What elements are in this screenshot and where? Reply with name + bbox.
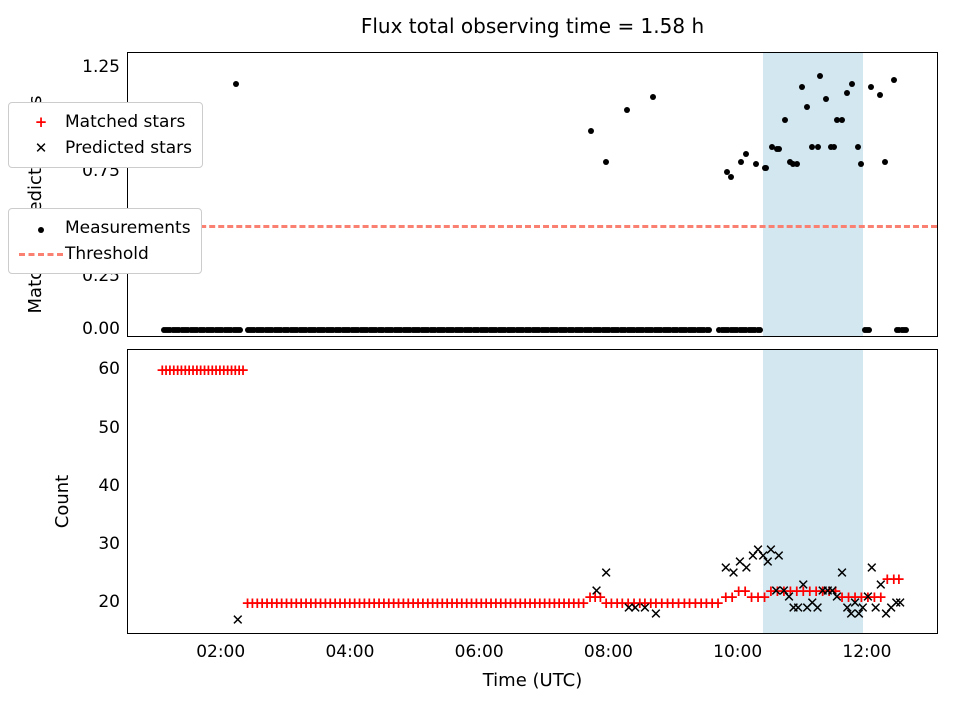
matched-star-marker: + [225, 364, 238, 377]
matched-star-marker: + [179, 364, 192, 377]
bottom-panel-plot-area: ++++++++++++++++++++++++++++++++++++++++… [128, 350, 937, 633]
predicted-star-marker: ✕ [590, 585, 603, 598]
measurement-point [868, 84, 874, 90]
matched-star-marker: + [611, 597, 624, 610]
ytick-label: 20 [98, 592, 120, 612]
predicted-star-marker: ✕ [890, 597, 903, 610]
matched-star-marker: + [187, 364, 200, 377]
matched-star-marker: + [358, 597, 371, 610]
xtick-label: 10:00 [713, 642, 762, 662]
matched-star-marker: + [887, 573, 900, 586]
predicted-star-marker: ✕ [600, 567, 613, 580]
legend-item-matched-stars[interactable]: + Matched stars [17, 109, 192, 135]
matched-star-marker: + [329, 597, 342, 610]
matched-star-marker: + [683, 597, 696, 610]
matched-star-marker: + [485, 597, 498, 610]
predicted-star-marker: ✕ [869, 602, 882, 615]
matched-star-marker: + [638, 597, 651, 610]
matched-star-marker: + [261, 597, 274, 610]
measurement-point [603, 159, 609, 165]
predicted-star-marker: ✕ [885, 602, 898, 615]
bottom-panel-ylabel: Count [52, 359, 73, 644]
matched-star-marker: + [256, 597, 269, 610]
ytick-mark [127, 329, 128, 331]
ytick-label: 30 [98, 534, 120, 554]
matched-star-marker: + [633, 597, 646, 610]
matched-star-marker: + [548, 597, 561, 610]
matched-star-marker: + [465, 597, 478, 610]
matched-star-marker: + [577, 597, 590, 610]
matched-star-marker: + [221, 364, 234, 377]
predicted-star-marker: ✕ [629, 602, 642, 615]
ytick-mark [127, 602, 128, 604]
matched-star-marker: + [678, 597, 691, 610]
matched-star-marker: + [299, 597, 312, 610]
ytick-mark [127, 172, 128, 174]
matched-star-marker: + [874, 591, 887, 604]
measurement-point [815, 144, 821, 150]
matched-star-marker: + [334, 597, 347, 610]
matched-star-marker: + [156, 364, 169, 377]
matched-star-marker: + [397, 597, 410, 610]
measurement-point [728, 174, 734, 180]
matched-star-marker: + [538, 597, 551, 610]
matched-star-marker: + [217, 364, 230, 377]
ytick-mark [127, 370, 128, 372]
matched-star-marker: + [416, 597, 429, 610]
matched-star-marker: + [455, 597, 468, 610]
measurement-point [624, 107, 630, 113]
ytick-mark [127, 486, 128, 488]
ytick-label: 60 [98, 359, 120, 379]
matched-star-marker: + [460, 597, 473, 610]
matched-star-marker: + [706, 597, 719, 610]
measurement-point [799, 84, 805, 90]
xtick-label: 06:00 [455, 642, 504, 662]
matched-star-marker: + [319, 597, 332, 610]
matched-star-marker: + [402, 597, 415, 610]
measurement-point [855, 144, 861, 150]
matched-star-marker: + [881, 573, 894, 586]
xaxis-label: Time (UTC) [127, 670, 938, 691]
matched-star-marker: + [392, 597, 405, 610]
matched-star-marker: + [528, 597, 541, 610]
matched-star-marker: + [377, 597, 390, 610]
threshold-line [128, 225, 937, 228]
predicted-star-marker: ✕ [874, 579, 887, 592]
matched-star-marker: + [202, 364, 215, 377]
matched-star-marker: + [627, 597, 640, 610]
legend-label-matched-stars: Matched stars [65, 112, 185, 132]
matched-star-marker: + [246, 597, 259, 610]
matched-star-marker: + [567, 597, 580, 610]
matched-star-marker: + [353, 597, 366, 610]
matched-star-marker: + [275, 597, 288, 610]
ytick-mark [127, 67, 128, 69]
matched-star-marker: + [655, 597, 668, 610]
matched-star-marker: + [421, 597, 434, 610]
measurement-point-zero [757, 327, 763, 333]
predicted-star-marker: ✕ [727, 567, 740, 580]
cross-marker-icon: ✕ [17, 139, 65, 157]
xtick-label: 12:00 [842, 642, 891, 662]
matched-star-marker: + [237, 364, 250, 377]
measurement-point [794, 161, 800, 167]
figure-root: Flux total observing time = 1.58 h 0.000… [0, 0, 960, 720]
matched-star-marker: + [426, 597, 439, 610]
matched-star-marker: + [562, 597, 575, 610]
matched-star-marker: + [407, 597, 420, 610]
measurement-point-zero [866, 327, 872, 333]
matched-star-marker: + [441, 597, 454, 610]
xaxis-tick-labels: 02:0004:0006:0008:0010:0012:00 [127, 634, 938, 664]
matched-star-marker: + [290, 597, 303, 610]
matched-star-marker: + [436, 597, 449, 610]
matched-star-marker: + [338, 597, 351, 610]
matched-star-marker: + [450, 597, 463, 610]
matched-star-marker: + [387, 597, 400, 610]
matched-star-marker: + [739, 585, 752, 598]
matched-star-marker: + [295, 597, 308, 610]
measurement-point-zero [237, 327, 243, 333]
matched-star-marker: + [644, 597, 657, 610]
matched-star-marker: + [572, 597, 585, 610]
matched-star-marker: + [700, 597, 713, 610]
xtick-mark [221, 336, 223, 337]
plus-marker-icon: + [17, 113, 65, 131]
predicted-star-marker: ✕ [649, 608, 662, 621]
legend-label-predicted-stars: Predicted stars [65, 138, 192, 158]
matched-star-marker: + [519, 597, 532, 610]
matched-star-marker: + [446, 597, 459, 610]
measurement-point [743, 151, 749, 157]
shaded-time-span-bottom [763, 350, 863, 633]
matched-star-marker: + [431, 597, 444, 610]
matched-star-marker: + [343, 597, 356, 610]
matched-star-marker: + [206, 364, 219, 377]
measurement-point [858, 161, 864, 167]
matched-star-marker: + [616, 597, 629, 610]
xtick-mark [867, 336, 869, 337]
matched-star-marker: + [868, 591, 881, 604]
xtick-label: 02:00 [196, 642, 245, 662]
matched-star-marker: + [363, 597, 376, 610]
measurement-point [823, 96, 829, 102]
measurement-point [233, 81, 239, 87]
matched-star-marker: + [600, 597, 613, 610]
matched-star-marker: + [229, 364, 242, 377]
predicted-star-marker: ✕ [861, 591, 874, 604]
matched-star-marker: + [160, 364, 173, 377]
matched-star-marker: + [194, 364, 207, 377]
measurement-point [738, 159, 744, 165]
matched-star-marker: + [198, 364, 211, 377]
matched-star-marker: + [509, 597, 522, 610]
matched-star-marker: + [553, 597, 566, 610]
matched-star-marker: + [711, 597, 724, 610]
matched-star-marker: + [233, 364, 246, 377]
predicted-star-marker: ✕ [880, 608, 893, 621]
matched-star-marker: + [672, 597, 685, 610]
matched-star-marker: + [265, 597, 278, 610]
ytick-label: 50 [98, 418, 120, 438]
matched-star-marker: + [324, 597, 337, 610]
matched-star-marker: + [732, 585, 745, 598]
matched-star-marker: + [661, 597, 674, 610]
top-panel-plot-area [128, 53, 937, 336]
matched-star-marker: + [543, 597, 556, 610]
matched-star-marker: + [412, 597, 425, 610]
matched-star-marker: + [594, 591, 607, 604]
predicted-star-marker: ✕ [231, 614, 244, 627]
bottom-panel-axes: ++++++++++++++++++++++++++++++++++++++++… [127, 349, 938, 634]
xtick-mark [479, 336, 481, 337]
matched-star-marker: + [382, 597, 395, 610]
matched-star-marker: + [695, 597, 708, 610]
matched-star-marker: + [504, 597, 517, 610]
matched-star-marker: + [175, 364, 188, 377]
measurement-point [588, 128, 594, 134]
matched-star-marker: + [348, 597, 361, 610]
matched-star-marker: + [190, 364, 203, 377]
matched-star-marker: + [280, 597, 293, 610]
measurement-point [650, 94, 656, 100]
matched-star-marker: + [622, 597, 635, 610]
matched-star-marker: + [533, 597, 546, 610]
matched-star-marker: + [499, 597, 512, 610]
matched-star-marker: + [368, 597, 381, 610]
matched-star-marker: + [475, 597, 488, 610]
threshold-dashed-line-icon [17, 245, 65, 263]
matched-star-marker: + [470, 597, 483, 610]
xtick-mark [738, 336, 740, 337]
predicted-star-marker: ✕ [622, 602, 635, 615]
ytick-mark [127, 544, 128, 546]
predicted-star-marker: ✕ [865, 562, 878, 575]
matched-star-marker: + [689, 597, 702, 610]
predicted-star-marker: ✕ [733, 556, 746, 569]
predicted-star-marker: ✕ [638, 602, 651, 615]
matched-star-marker: + [892, 573, 905, 586]
matched-star-marker: + [524, 597, 537, 610]
bottom-panel-legend[interactable]: + Matched stars ✕ Predicted stars [8, 102, 203, 168]
matched-star-marker: + [210, 364, 223, 377]
matched-star-marker: + [213, 364, 226, 377]
measurement-point [891, 77, 897, 83]
matched-star-marker: + [584, 591, 597, 604]
xtick-mark [350, 336, 352, 337]
predicted-star-marker: ✕ [746, 550, 759, 563]
matched-star-marker: + [285, 597, 298, 610]
matched-star-marker: + [304, 597, 317, 610]
top-panel-axes [127, 52, 938, 337]
matched-star-marker: + [726, 591, 739, 604]
matched-star-marker: + [589, 591, 602, 604]
matched-star-marker: + [314, 597, 327, 610]
measurement-point [882, 159, 888, 165]
measurement-point [782, 117, 788, 123]
page-title: Flux total observing time = 1.58 h [127, 14, 938, 38]
matched-star-marker: + [666, 597, 679, 610]
matched-star-marker: + [183, 364, 196, 377]
matched-star-marker: + [251, 597, 264, 610]
measurement-dot-icon [17, 219, 65, 237]
matched-star-marker: + [719, 591, 732, 604]
matched-star-marker: + [309, 597, 322, 610]
matched-star-marker: + [649, 597, 662, 610]
matched-star-marker: + [270, 597, 283, 610]
matched-star-marker: + [163, 364, 176, 377]
matched-star-marker: + [605, 597, 618, 610]
matched-star-marker: + [558, 597, 571, 610]
measurement-point [877, 92, 883, 98]
matched-star-marker: + [171, 364, 184, 377]
xtick-label: 08:00 [584, 642, 633, 662]
matched-star-marker: + [514, 597, 527, 610]
predicted-star-marker: ✕ [719, 562, 732, 575]
matched-star-marker: + [373, 597, 386, 610]
matched-star-marker: + [167, 364, 180, 377]
measurement-point [753, 161, 759, 167]
legend-item-predicted-stars[interactable]: ✕ Predicted stars [17, 135, 192, 161]
matched-star-marker: + [489, 597, 502, 610]
predicted-star-marker: ✕ [894, 597, 907, 610]
measurement-point-zero [706, 327, 712, 333]
matched-star-marker: + [861, 591, 874, 604]
measurement-point-zero [903, 327, 909, 333]
matched-star-marker: + [745, 591, 758, 604]
xtick-label: 04:00 [325, 642, 374, 662]
matched-star-marker: + [494, 597, 507, 610]
ytick-mark [127, 428, 128, 430]
matched-star-marker: + [241, 597, 254, 610]
matched-star-marker: + [480, 597, 493, 610]
ytick-label: 40 [98, 476, 120, 496]
ytick-mark [127, 276, 128, 278]
xtick-mark [609, 336, 611, 337]
predicted-star-marker: ✕ [740, 562, 753, 575]
